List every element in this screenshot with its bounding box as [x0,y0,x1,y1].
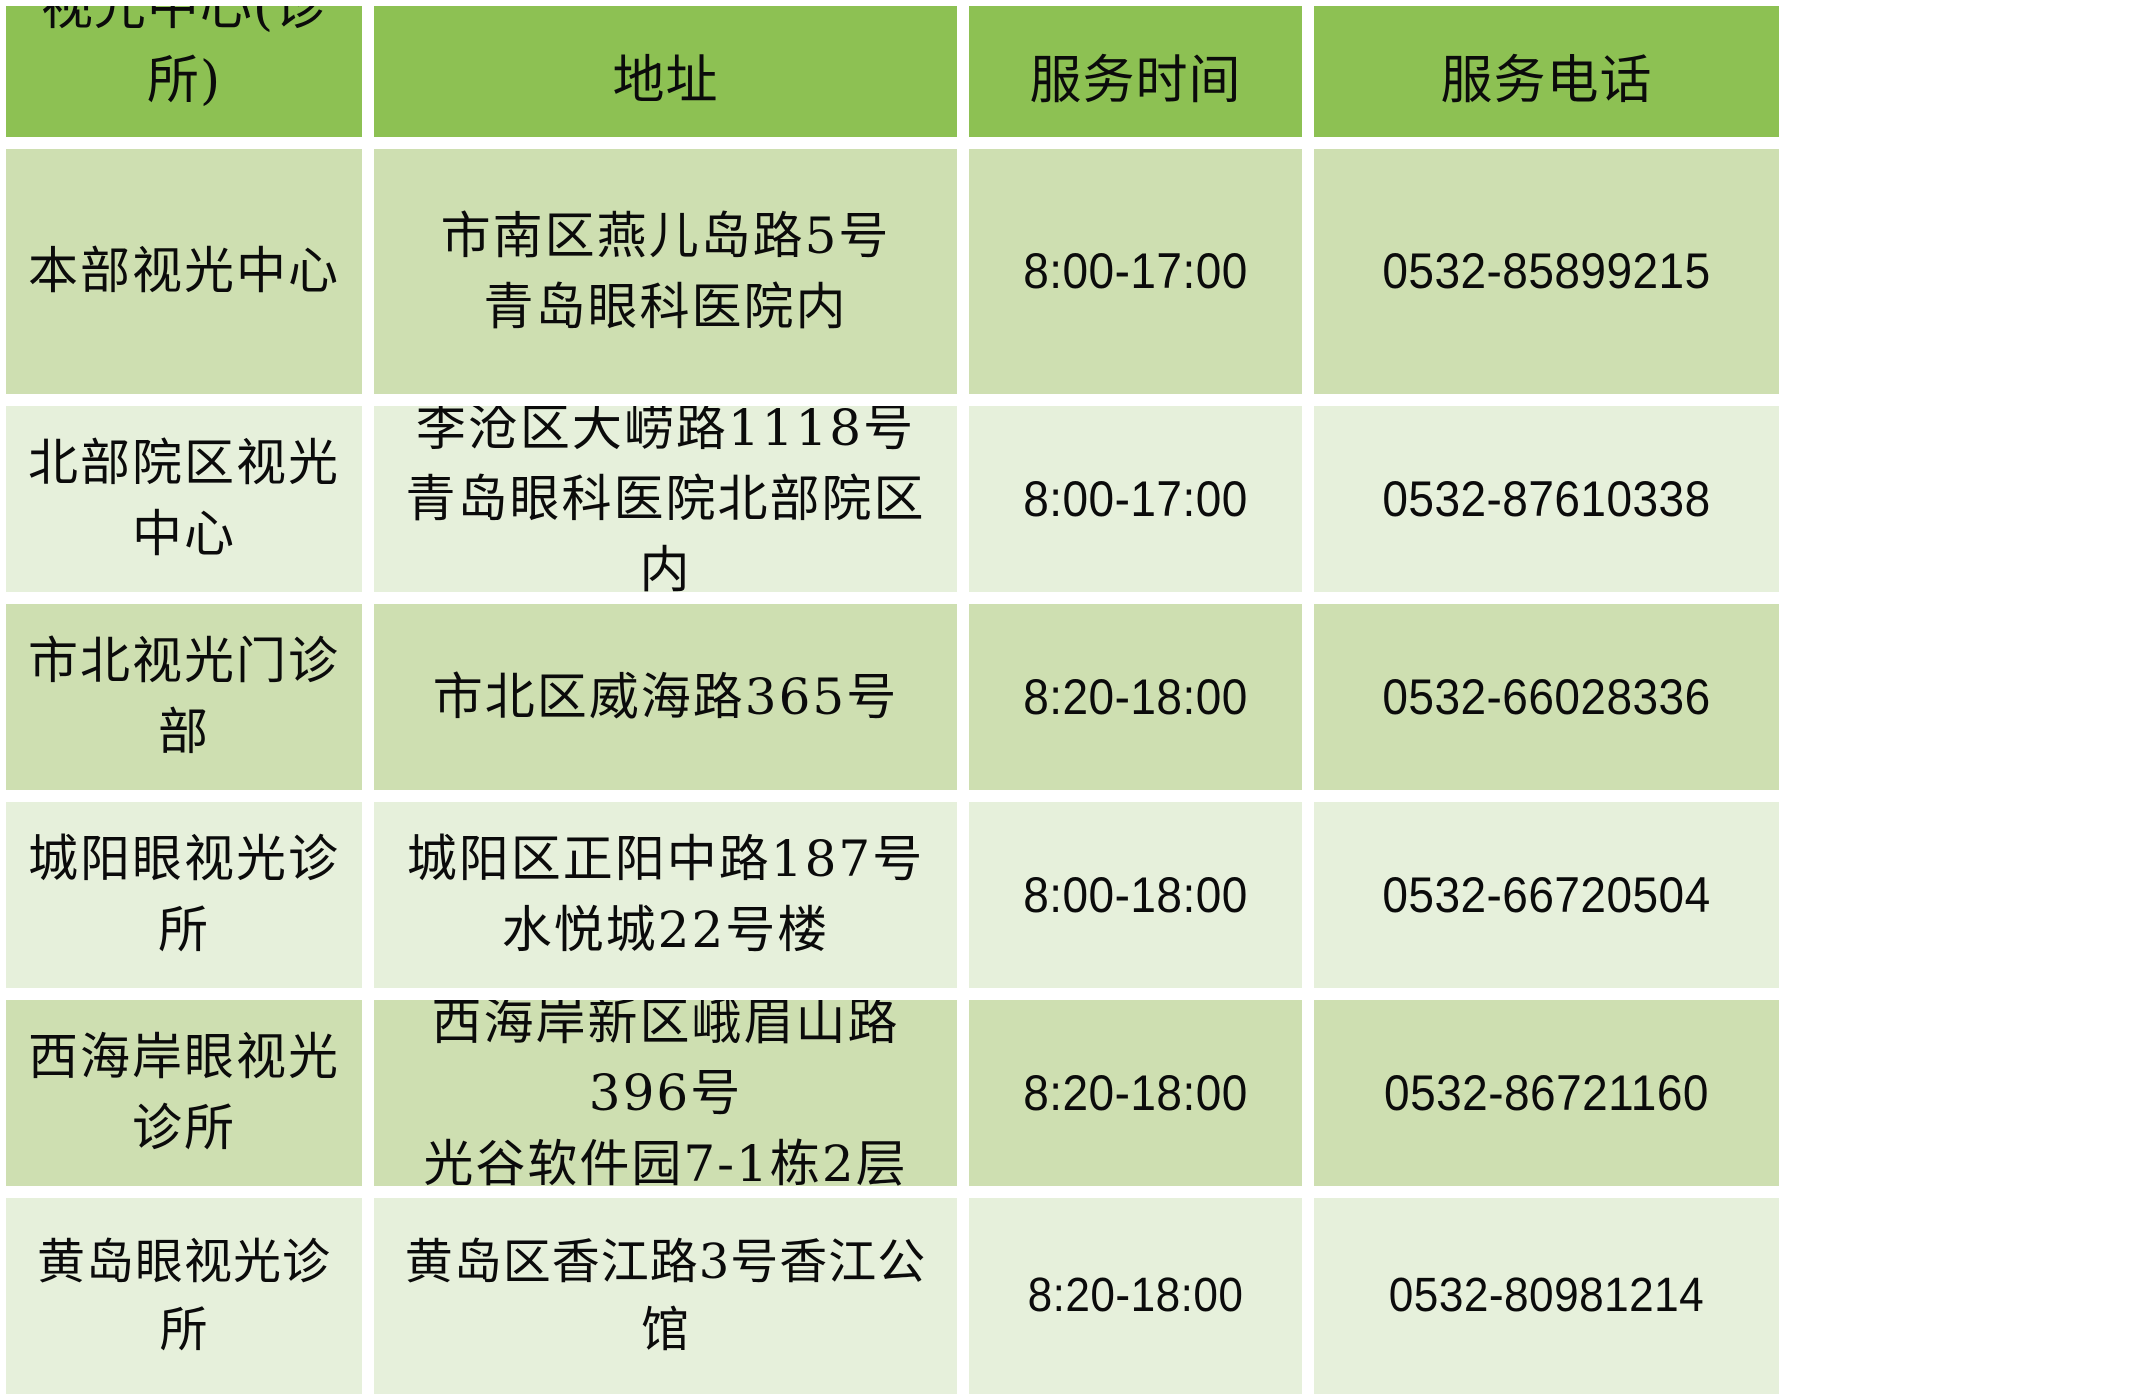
service-hours: 8:00-18:00 [992,860,1280,931]
table-row: 市北区威海路365号 [368,598,963,796]
center-name: 市北视光门诊部 [16,626,352,768]
service-hours: 8:00-17:00 [992,464,1280,535]
service-phone: 0532-86721160 [1342,1058,1751,1129]
address-line: 城阳区正阳中路187号 [384,824,947,895]
optometry-centers-table: 视光中心(诊所) 地址 服务时间 服务电话 本部视光中心 市南区燕儿岛路5号 青… [0,0,2130,1400]
table-row: 8:20-18:00 [963,994,1308,1192]
address-line: 青岛眼科医院内 [384,272,947,343]
table-row: 西海岸眼视光诊所 [0,994,368,1192]
center-address: 李沧区大崂路1118号 青岛眼科医院北部院区内 [384,400,947,598]
table-row: 市北视光门诊部 [0,598,368,796]
center-address: 城阳区正阳中路187号 水悦城22号楼 [384,824,947,966]
column-header-address-label: 地址 [384,45,947,119]
table-row: 8:20-18:00 [963,598,1308,796]
table-row: 0532-85899215 [1308,143,1785,400]
table-row: 0532-87610338 [1308,400,1785,598]
table-row: 城阳区正阳中路187号 水悦城22号楼 [368,796,963,994]
service-phone: 0532-66720504 [1342,860,1751,931]
table-row: 8:00-17:00 [963,400,1308,598]
column-header-center-label: 视光中心(诊所) [16,0,352,119]
service-phone: 0532-80981214 [1342,1262,1751,1330]
address-line: 光谷软件园7-1栋2层 [384,1129,947,1193]
table-row: 0532-80981214 [1308,1192,1785,1400]
address-line: 市南区燕儿岛路5号 [384,201,947,272]
table-row: 黄岛区香江路3号香江公馆 [368,1192,963,1400]
column-header-phone: 服务电话 [1308,0,1785,143]
table-row: 李沧区大崂路1118号 青岛眼科医院北部院区内 [368,400,963,598]
center-address: 市南区燕儿岛路5号 青岛眼科医院内 [384,201,947,343]
center-name: 北部院区视光中心 [16,428,352,570]
table-row: 8:20-18:00 [963,1192,1308,1400]
service-hours: 8:20-18:00 [992,1058,1280,1129]
center-address: 西海岸新区峨眉山路396号 光谷软件园7-1栋2层 [384,994,947,1192]
column-header-phone-label: 服务电话 [1324,45,1769,119]
service-phone: 0532-85899215 [1342,236,1751,307]
service-hours: 8:20-18:00 [992,662,1280,733]
table-row: 西海岸新区峨眉山路396号 光谷软件园7-1栋2层 [368,994,963,1192]
column-header-hours-label: 服务时间 [979,45,1292,119]
service-phone: 0532-66028336 [1342,662,1751,733]
table-row: 黄岛眼视光诊所 [0,1192,368,1400]
service-hours: 8:00-17:00 [992,236,1280,307]
address-line: 青岛眼科医院北部院区内 [384,464,947,599]
address-line: 市北区威海路365号 [384,662,947,733]
table-row: 0532-66720504 [1308,796,1785,994]
center-name: 西海岸眼视光诊所 [16,1022,352,1164]
column-header-center: 视光中心(诊所) [0,0,368,143]
address-line: 李沧区大崂路1118号 [384,400,947,464]
table-row: 0532-86721160 [1308,994,1785,1192]
service-phone: 0532-87610338 [1342,464,1751,535]
center-name: 城阳眼视光诊所 [16,824,352,966]
service-hours: 8:20-18:00 [992,1262,1280,1330]
address-line: 水悦城22号楼 [384,895,947,966]
table-row: 北部院区视光中心 [0,400,368,598]
center-name: 本部视光中心 [16,236,352,307]
address-line: 西海岸新区峨眉山路396号 [384,994,947,1129]
table-row: 城阳眼视光诊所 [0,796,368,994]
center-name: 黄岛眼视光诊所 [16,1228,352,1364]
table-row: 市南区燕儿岛路5号 青岛眼科医院内 [368,143,963,400]
table-row: 0532-66028336 [1308,598,1785,796]
column-header-address: 地址 [368,0,963,143]
table-row: 8:00-17:00 [963,143,1308,400]
address-line: 黄岛区香江路3号香江公馆 [384,1228,947,1364]
table-row: 8:00-18:00 [963,796,1308,994]
table-row: 本部视光中心 [0,143,368,400]
center-address: 黄岛区香江路3号香江公馆 [384,1228,947,1364]
center-address: 市北区威海路365号 [384,662,947,733]
column-header-hours: 服务时间 [963,0,1308,143]
